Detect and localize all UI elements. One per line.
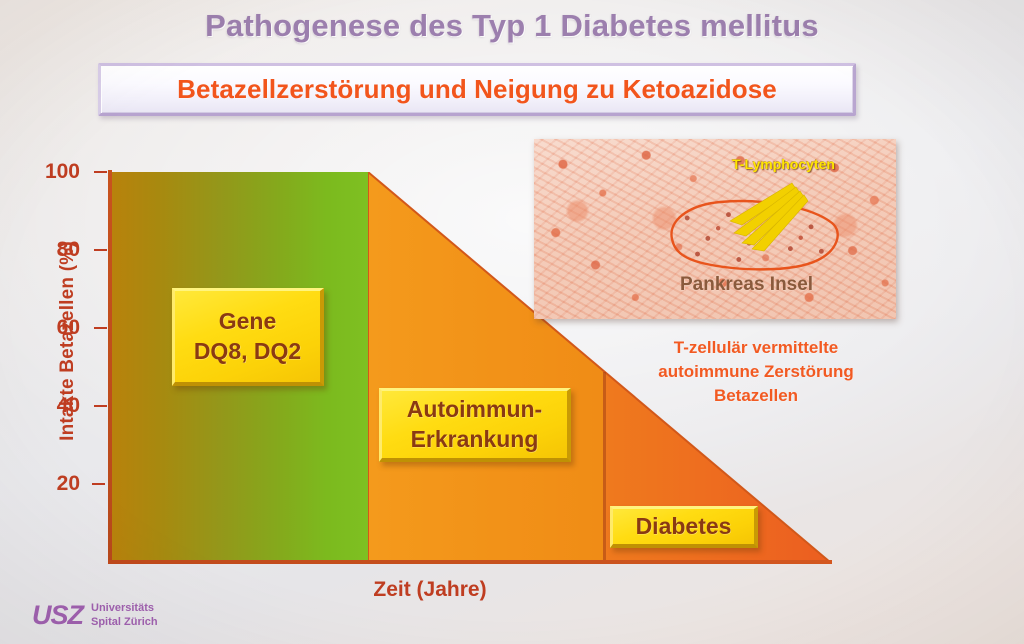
usz-logo: USZ Universitäts Spital Zürich <box>32 602 158 629</box>
callout-autoimmune: Autoimmun- Erkrankung <box>379 388 571 462</box>
y-tick-label-100: 100 <box>16 160 80 184</box>
y-tick-mark-100 <box>94 171 107 173</box>
lymphocyten-label: T-Lymphocyten <box>732 156 835 172</box>
callout-gene-line1: Gene <box>219 307 277 336</box>
x-axis-title: Zeit (Jahre) <box>230 578 630 602</box>
mechanism-caption-line2: autoimmune Zerstörung <box>596 360 916 384</box>
callout-autoimmune-line2: Erkrankung <box>411 425 539 454</box>
usz-logo-text: Universitäts Spital Zürich <box>91 602 158 629</box>
histology-inset: T-Lymphocyten Pankreas Insel <box>534 139 896 319</box>
callout-autoimmune-line1: Autoimmun- <box>407 395 542 424</box>
usz-logo-line2: Spital Zürich <box>91 616 158 629</box>
y-tick-mark-60 <box>94 327 107 329</box>
callout-diabetes: Diabetes <box>610 506 758 548</box>
y-axis-title: Intakte Betazellen (%) <box>57 211 79 471</box>
usz-logo-line1: Universitäts <box>91 602 158 615</box>
usz-logo-mark: USZ <box>32 602 83 629</box>
y-axis-line <box>108 170 112 564</box>
mechanism-caption-line3: Betazellen <box>596 384 916 408</box>
slide-canvas: Pathogenese des Typ 1 Diabetes mellitus … <box>0 0 1024 644</box>
mechanism-caption: T-zellulär vermittelte autoimmune Zerstö… <box>596 336 916 408</box>
y-tick-label-20: 20 <box>16 472 80 496</box>
y-tick-mark-80 <box>94 249 107 251</box>
mechanism-caption-line1: T-zellulär vermittelte <box>596 336 916 360</box>
y-tick-mark-40 <box>94 405 107 407</box>
pathogenesis-chart: 100 80 60 40 20 Intakte Betazellen (%) Z… <box>0 0 1024 644</box>
pankreas-insel-label: Pankreas Insel <box>680 274 813 296</box>
x-axis-line <box>108 560 832 564</box>
callout-gene: Gene DQ8, DQ2 <box>172 288 324 386</box>
y-tick-mark-20 <box>92 483 105 485</box>
callout-gene-line2: DQ8, DQ2 <box>194 337 301 366</box>
callout-diabetes-line1: Diabetes <box>636 512 732 541</box>
